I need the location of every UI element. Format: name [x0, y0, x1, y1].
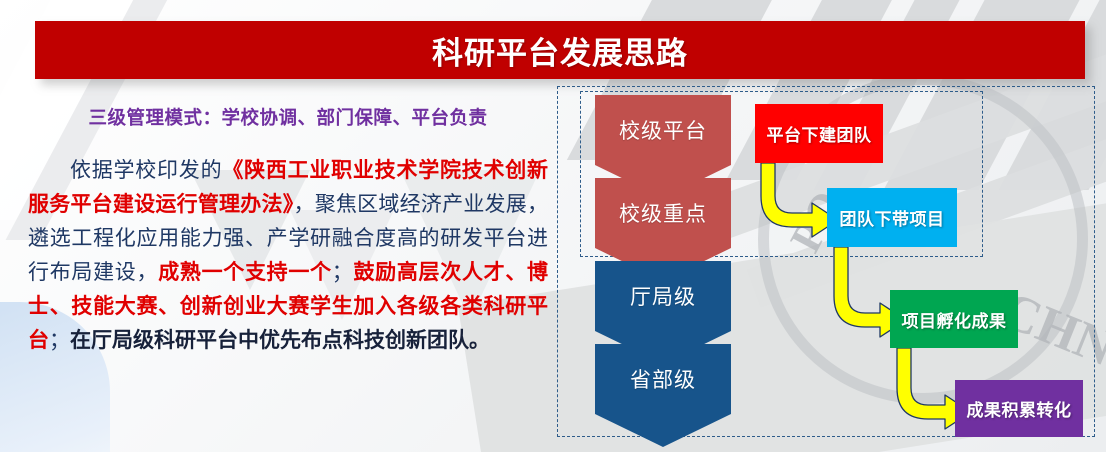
flow-box-label: 项目孵化成果 — [902, 307, 1007, 332]
flow-box-project-outcome[interactable]: 项目孵化成果 — [890, 290, 1018, 348]
flow-box-team-project[interactable]: 团队下带项目 — [827, 188, 957, 247]
flow-box-label: 平台下建团队 — [767, 121, 872, 146]
flow-box-label: 团队下带项目 — [840, 205, 945, 230]
flow-box-outcome-transform[interactable]: 成果积累转化 — [955, 380, 1083, 437]
flow-box-platform-team[interactable]: 平台下建团队 — [755, 104, 883, 163]
slide-canvas: PO CHN 科研平台发展思路 三级管理模式：学校协调、部门保障、平台负责 依据… — [0, 0, 1106, 452]
level-chevron-label: 省部级 — [630, 364, 696, 394]
level-chevron-label: 校级重点 — [619, 198, 707, 228]
flow-box-label: 成果积累转化 — [967, 396, 1072, 421]
platform-flow-diagram: 校级平台 校级重点 厅局级 省部级 平台下建团队 团队下带项目 项目孵化成果 — [0, 0, 1106, 452]
level-chevron-label: 校级平台 — [619, 115, 707, 145]
level-chevron-label: 厅局级 — [630, 281, 696, 311]
